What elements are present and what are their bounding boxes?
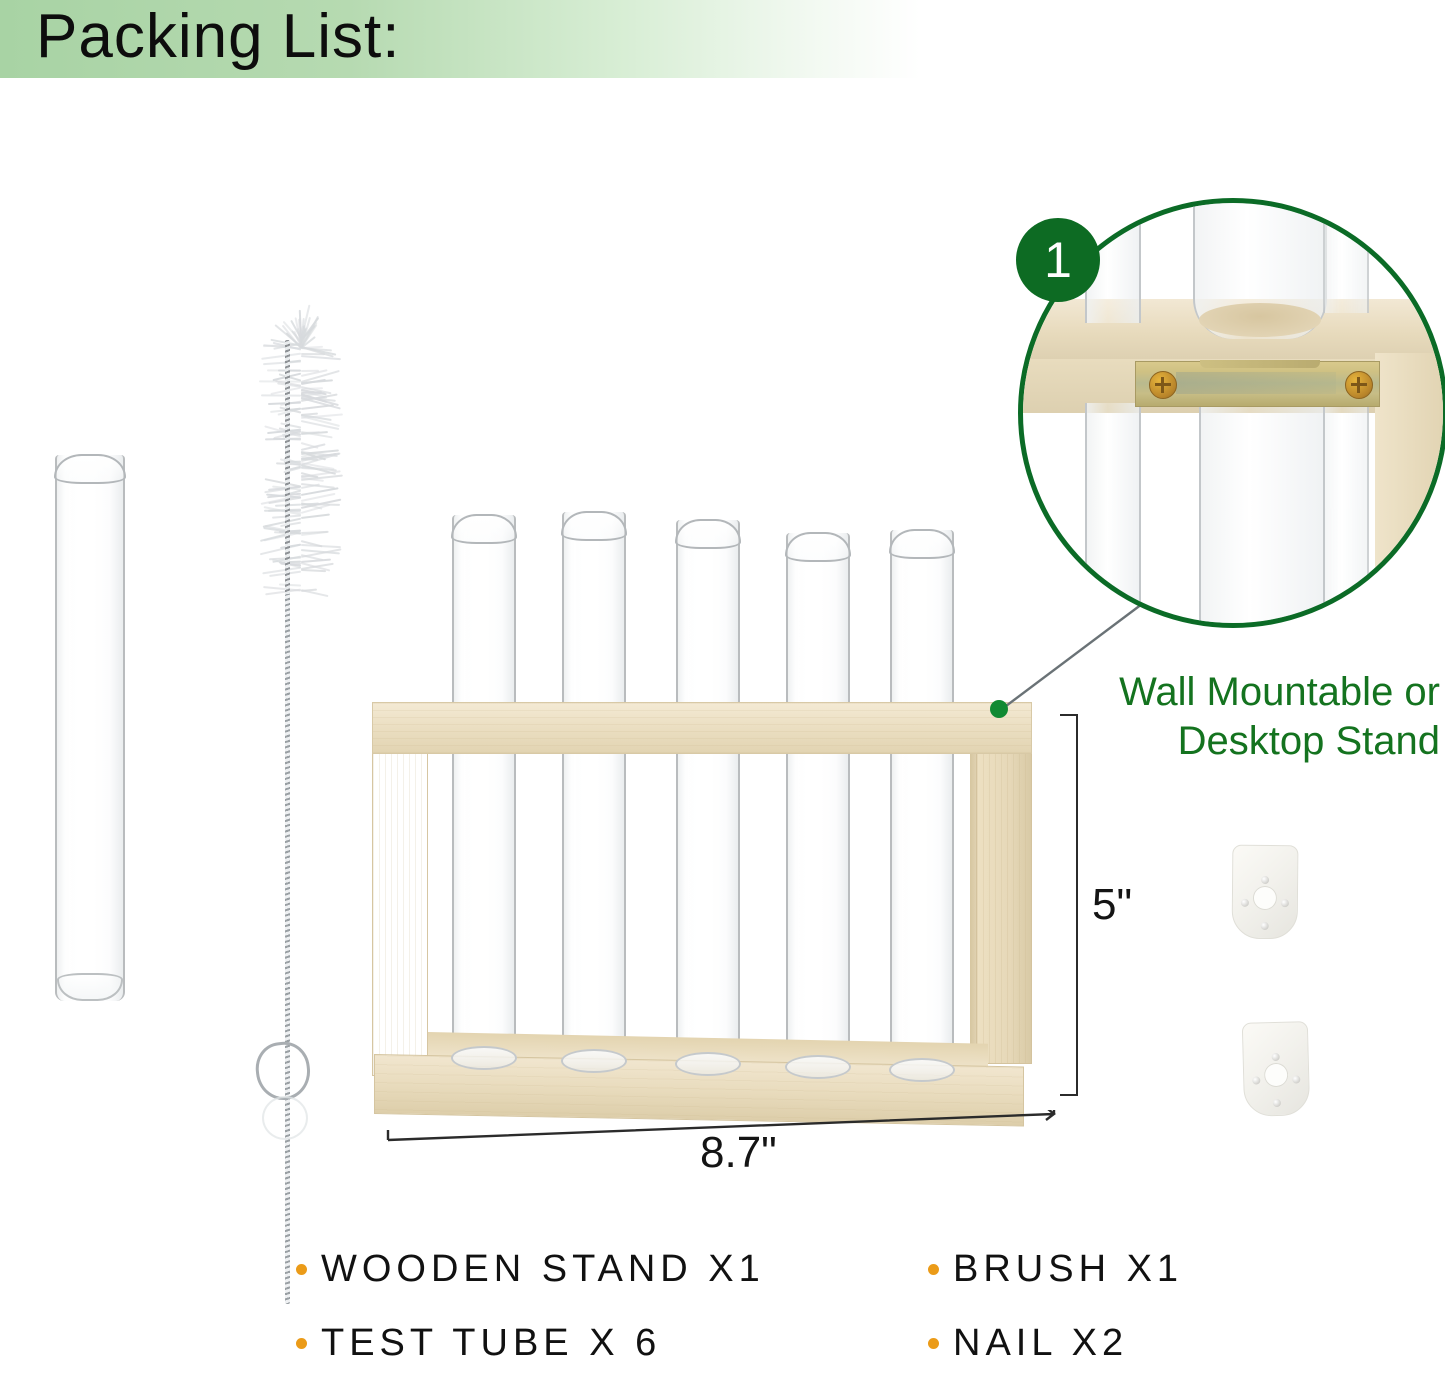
nail-point-left: [1252, 1076, 1260, 1084]
brush-handle-wire: [285, 594, 290, 1384]
tube-rim: [675, 519, 741, 549]
bracket-screw-right: [1345, 371, 1373, 399]
tube-highlight: [69, 473, 75, 979]
wall-mount-nail-plate-1: [1232, 845, 1299, 940]
bullet-icon: [928, 1264, 939, 1275]
tube-highlight-secondary: [99, 473, 105, 979]
brush-wire-segment: [285, 594, 290, 1304]
height-dimension-label: 5": [1092, 880, 1132, 930]
callout-drill-hole: [1199, 303, 1321, 337]
brush-bristle: [281, 423, 301, 429]
tube-rim: [451, 514, 517, 544]
brush-loop-reflection: [262, 1096, 308, 1140]
callout-tube-center-bottom: [1199, 407, 1325, 628]
cleaning-brush: [236, 336, 344, 1126]
nail-point-bottom: [1273, 1099, 1281, 1107]
stand-top-rail: [372, 702, 1032, 754]
list-item-label: BRUSH X1: [953, 1248, 1183, 1291]
list-item: BRUSH X1: [928, 1248, 1183, 1291]
bracket-screw-left: [1149, 371, 1177, 399]
brush-bristle: [301, 404, 334, 409]
callout-wood-right-post: [1375, 353, 1445, 628]
bullet-icon: [296, 1338, 307, 1349]
packing-list-banner: Packing List:: [0, 0, 920, 78]
brush-bristle: [301, 589, 328, 597]
brush-bristle: [301, 387, 323, 389]
callout-caption: Wall Mountable or Desktop Stand: [1040, 668, 1440, 766]
brush-bristle: [279, 584, 301, 587]
callout-badge-number: 1: [1016, 218, 1100, 302]
list-item: TEST TUBE X 6: [296, 1322, 661, 1365]
caption-line-1: Wall Mountable or: [1040, 668, 1440, 717]
nail-plate-hole: [1253, 885, 1277, 909]
callout-tube-right-bottom: [1323, 407, 1369, 627]
stand-right-leg: [976, 746, 1032, 1064]
brush-core-wire: [285, 340, 290, 596]
stand-left-leg: [372, 746, 428, 1076]
brush-bristle: [261, 353, 301, 360]
tube-rim: [785, 532, 851, 562]
brush-bristle: [261, 395, 301, 397]
brush-bristle: [265, 438, 301, 440]
brush-bristle-head: [250, 336, 332, 598]
list-item-label: NAIL X2: [953, 1322, 1128, 1365]
nail-point-top: [1272, 1053, 1280, 1061]
tube-socket: [785, 1055, 851, 1079]
tube-socket: [675, 1052, 741, 1076]
callout-tube-left-bottom: [1085, 403, 1141, 628]
bullet-icon: [928, 1338, 939, 1349]
wall-mount-nail-plate-2: [1242, 1021, 1310, 1117]
nail-point-right: [1281, 899, 1289, 907]
list-item: NAIL X2: [928, 1322, 1128, 1365]
list-item: WOODEN STAND X1: [296, 1248, 765, 1291]
tube-rim: [561, 511, 627, 541]
brush-bristle: [263, 361, 301, 365]
bracket-notch: [1200, 360, 1320, 368]
callout-tube-right-top: [1323, 198, 1369, 313]
height-dimension-bracket: [1060, 714, 1078, 1096]
tube-socket: [889, 1058, 955, 1082]
caption-line-2: Desktop Stand: [1040, 717, 1440, 766]
nail-point-left: [1241, 899, 1249, 907]
nail-point-top: [1261, 876, 1269, 884]
page-title: Packing List:: [36, 0, 401, 76]
nail-point-bottom: [1261, 922, 1269, 930]
tube-socket: [561, 1049, 627, 1073]
glass-test-tube: [55, 455, 121, 1001]
tube-rim: [54, 454, 126, 484]
brush-bristle: [301, 355, 341, 360]
brush-bristle: [301, 513, 330, 518]
nail-point-right: [1292, 1075, 1300, 1083]
tube-body: [55, 455, 125, 1001]
list-item-label: TEST TUBE X 6: [321, 1322, 661, 1365]
tube-socket: [451, 1046, 517, 1070]
nail-plate-hole: [1264, 1062, 1289, 1087]
tube-rim: [889, 529, 955, 559]
bracket-patina: [1176, 372, 1336, 394]
callout-anchor-dot: [990, 700, 1008, 718]
width-dimension-label: 8.7": [700, 1128, 777, 1178]
bullet-icon: [296, 1264, 307, 1275]
list-item-label: WOODEN STAND X1: [321, 1248, 765, 1291]
brush-bristle: [301, 370, 319, 372]
